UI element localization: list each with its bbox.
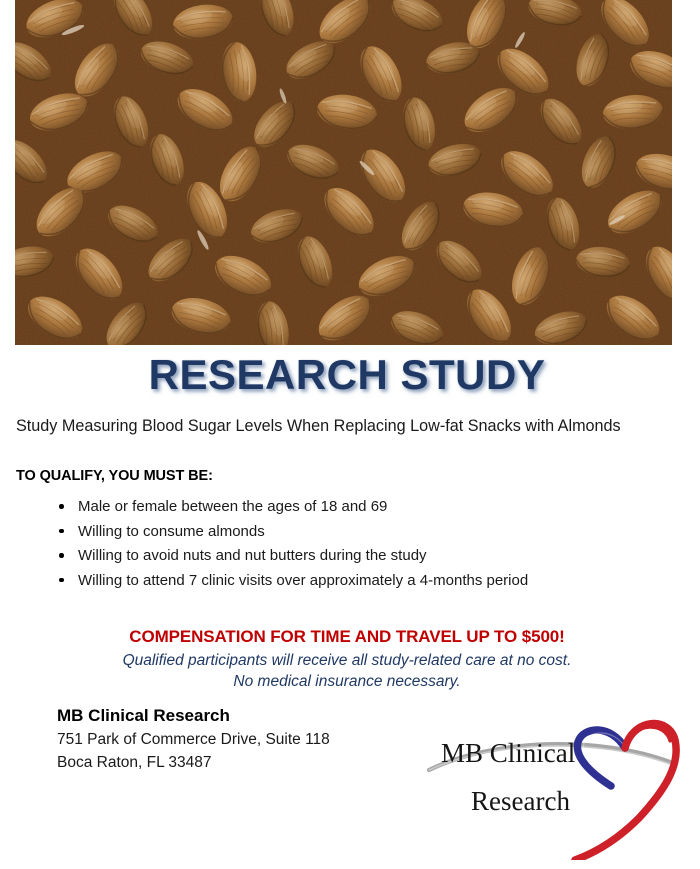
compensation-note-primary: Qualified participants will receive all … bbox=[0, 651, 694, 672]
qualification-criteria-list: Male or female between the ages of 18 an… bbox=[52, 499, 528, 597]
almonds-photo bbox=[15, 0, 672, 345]
address-line-street: 751 Park of Commerce Drive, Suite 118 bbox=[57, 728, 330, 751]
bullet-icon bbox=[59, 578, 64, 583]
bullet-icon bbox=[59, 529, 64, 534]
bullet-icon bbox=[59, 553, 64, 558]
list-item: Willing to consume almonds bbox=[78, 524, 528, 539]
list-item-label: Male or female between the ages of 18 an… bbox=[78, 498, 387, 515]
bullet-icon bbox=[59, 504, 64, 509]
compensation-headline: COMPENSATION FOR TIME AND TRAVEL UP TO $… bbox=[0, 626, 694, 647]
qualify-heading: TO QUALIFY, YOU MUST BE: bbox=[16, 468, 213, 484]
compensation-note-secondary: No medical insurance necessary. bbox=[0, 672, 694, 693]
clinic-logo: MB Clinical Research bbox=[425, 700, 695, 860]
list-item-label: Willing to avoid nuts and nut butters du… bbox=[78, 547, 427, 564]
logo-word-primary: MB Clinical bbox=[441, 738, 575, 768]
list-item-label: Willing to consume almonds bbox=[78, 523, 265, 540]
address-line-city: Boca Raton, FL 33487 bbox=[57, 751, 330, 774]
clinic-name: MB Clinical Research bbox=[57, 705, 330, 728]
page-title: RESEARCH STUDY bbox=[0, 354, 694, 396]
logo-word-secondary: Research bbox=[471, 786, 570, 816]
list-item-label: Willing to attend 7 clinic visits over a… bbox=[78, 572, 528, 589]
list-item: Male or female between the ages of 18 an… bbox=[78, 499, 528, 514]
contact-block: MB Clinical Research 751 Park of Commerc… bbox=[57, 705, 330, 774]
study-subtitle: Study Measuring Blood Sugar Levels When … bbox=[16, 417, 684, 436]
list-item: Willing to avoid nuts and nut butters du… bbox=[78, 548, 528, 563]
list-item: Willing to attend 7 clinic visits over a… bbox=[78, 573, 528, 588]
compensation-block: COMPENSATION FOR TIME AND TRAVEL UP TO $… bbox=[0, 626, 694, 693]
